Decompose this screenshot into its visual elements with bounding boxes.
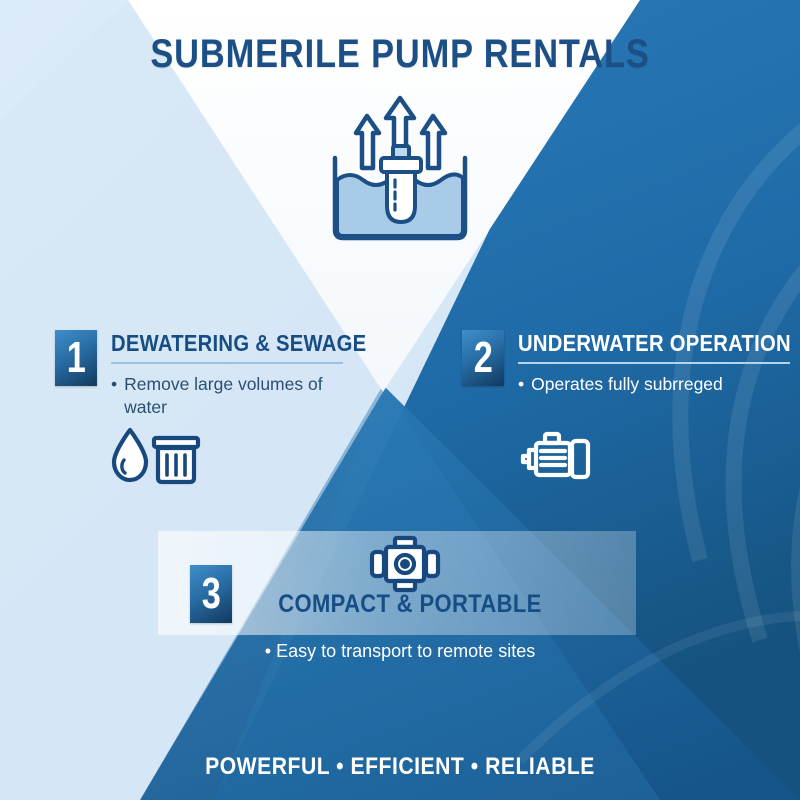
feature-3-bullet-text: Easy to transport to remote sites	[276, 641, 535, 661]
feature-1-header: 1 DEWATERING & SEWAGE • Remove large vol…	[55, 330, 385, 419]
feature-1-number-badge: 1	[55, 330, 97, 386]
electric-motor-pump-icon	[520, 426, 604, 491]
bullet-marker-icon: •	[265, 641, 271, 661]
feature-2-divider	[518, 362, 790, 364]
feature-1-title: DEWATERING & SEWAGE	[111, 330, 366, 356]
feature-block-2: 2 UNDERWATER OPERATION • Operates fully …	[462, 330, 782, 396]
feature-2-title: UNDERWATER OPERATION	[518, 330, 791, 356]
footer-tagline: POWERFUL • EFFICIENT • RELIABLE	[48, 753, 752, 781]
feature-1-bullet-text: Remove large volumes ofwater	[124, 373, 322, 419]
feature-1-number: 1	[66, 336, 85, 380]
feature-2-header: 2 UNDERWATER OPERATION • Operates fully …	[462, 330, 782, 396]
feature-2-bullet: • Operates fully subrreged	[518, 373, 800, 396]
feature-3-bullet: • Easy to transport to remote sites	[150, 641, 650, 662]
bullet-marker-icon: •	[518, 373, 524, 396]
submersible-pump-in-tank-icon	[315, 88, 485, 246]
feature-block-1: 1 DEWATERING & SEWAGE • Remove large vol…	[55, 330, 385, 419]
feature-2-bullet-text: Operates fully subrreged	[531, 373, 723, 396]
feature-1-divider	[111, 362, 343, 364]
page-title: SUBMERILE PUMP RENTALS	[56, 32, 744, 77]
water-drop-and-filter-icon	[110, 426, 202, 491]
bullet-marker-icon: •	[111, 373, 117, 419]
feature-3-title: COMPACT & PORTABLE	[216, 590, 603, 619]
feature-2-number: 2	[473, 336, 492, 380]
infographic-poster: SUBMERILE PUMP RENTALS	[0, 0, 800, 800]
feature-2-number-badge: 2	[462, 330, 504, 386]
feature-1-bullet: • Remove large volumes ofwater	[111, 373, 371, 419]
